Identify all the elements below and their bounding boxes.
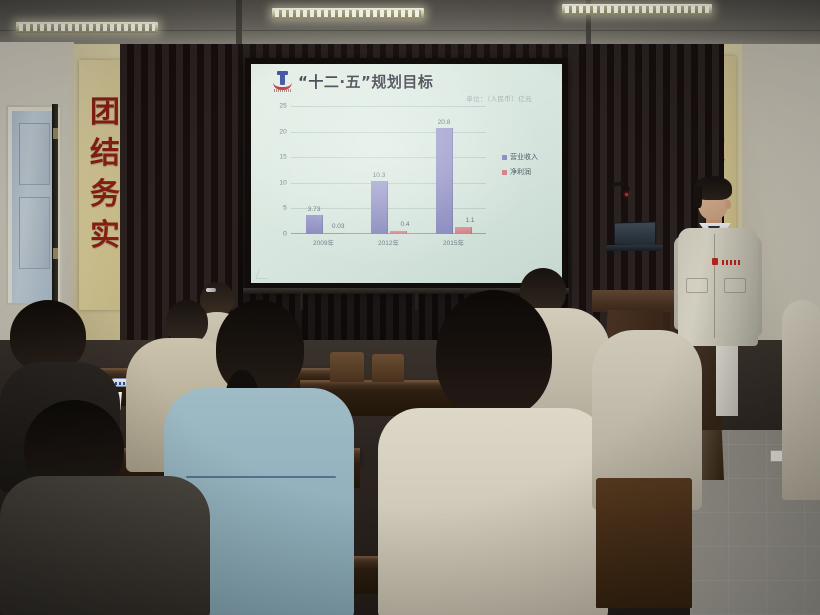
ceiling-light-left — [16, 22, 158, 33]
hair-clip — [206, 288, 216, 292]
chair-front-right[interactable] — [596, 478, 692, 608]
y-tick-15: 15 — [279, 154, 287, 161]
y-tick-5: 5 — [283, 205, 287, 212]
presenter-trousers — [716, 342, 738, 416]
bar-profit-2012: 0.4 — [390, 231, 407, 234]
bar-label-revenue-2015: 20.8 — [438, 119, 451, 126]
legend-label-revenue: 营业收入 — [510, 152, 538, 162]
y-tick-0: 0 — [283, 231, 287, 238]
shoulders — [0, 476, 210, 615]
x-label-2009: 2009年 — [313, 237, 334, 247]
banner-left-char-4: 实 — [90, 221, 120, 251]
audience-member-gray-sweater — [0, 400, 210, 615]
shoulders — [378, 408, 608, 615]
ceiling-light-center — [272, 8, 424, 19]
audience-member-edge-right — [782, 300, 820, 500]
bar-group-2015: 20.8 1.1 — [436, 106, 472, 234]
door-hinge-upper — [53, 128, 58, 139]
ceiling-light-right — [562, 4, 712, 15]
plot-area: 3.73 0.03 10.3 — [291, 106, 486, 234]
door-panel-top — [19, 123, 50, 185]
bar-profit-2015: 1.1 — [455, 227, 472, 234]
bar-revenue-2012: 10.3 — [371, 181, 388, 234]
bar-groups: 3.73 0.03 10.3 — [291, 106, 486, 234]
banner-left-char-1: 团 — [90, 98, 120, 128]
presenter-pocket-right — [724, 278, 746, 293]
x-axis-labels: 2009年 2012年 2015年 — [291, 237, 486, 247]
y-tick-10: 10 — [279, 179, 287, 186]
presenter-jacket-seam — [714, 234, 715, 338]
bar-label-revenue-2009: 3.73 — [308, 206, 321, 213]
company-logo-icon — [273, 70, 292, 92]
x-label-2012: 2012年 — [378, 237, 399, 247]
projection-screen-frame: “十二·五”规划目标 单位：（人民币）亿元 25 20 15 10 5 0 — [245, 58, 567, 290]
y-tick-25: 25 — [279, 103, 287, 110]
laptop-screen[interactable] — [614, 221, 656, 246]
bar-label-profit-2012: 0.4 — [400, 221, 409, 228]
legend-label-profit: 净利润 — [510, 167, 531, 177]
banner-left-char-2: 结 — [90, 139, 120, 169]
legend-item-revenue: 营业收入 — [502, 152, 538, 162]
door-hinge-lower — [53, 248, 58, 259]
laptop-base[interactable] — [605, 245, 663, 251]
door-panel-bottom — [19, 197, 50, 269]
slide-title: “十二·五”规划目标 — [298, 71, 433, 92]
bar-label-profit-2015: 1.1 — [465, 217, 474, 224]
bar-label-revenue-2012: 10.3 — [373, 172, 386, 179]
ceiling — [0, 0, 820, 46]
banner-left-char-3: 务 — [90, 180, 120, 210]
slide-unit-note: 单位：（人民币）亿元 — [259, 93, 554, 103]
audience-member-front-ponytail — [378, 290, 608, 615]
microphone-led-icon — [625, 193, 628, 196]
ceiling-beam-left — [236, 0, 242, 44]
x-label-2015: 2015年 — [443, 237, 464, 247]
bar-group-2012: 10.3 0.4 — [371, 106, 407, 234]
legend-item-profit: 净利润 — [502, 167, 538, 177]
slide-corner-mark — [256, 270, 271, 279]
projection-screen: “十二·五”规划目标 单位：（人民币）亿元 25 20 15 10 5 0 — [251, 64, 562, 283]
presentation-photo-scene: 团 结 务 实 高 效 务 “十二·五”规划目标 单位：（人民币）亿元 — [0, 0, 820, 615]
bar-label-profit-2009: 0.03 — [332, 223, 345, 230]
door-leaf — [12, 111, 57, 303]
shoulders — [782, 300, 820, 500]
presenter-hair-side — [693, 186, 702, 208]
legend-swatch-revenue-icon — [502, 155, 507, 160]
presenter-pocket-left — [686, 278, 708, 293]
presenter-jacket-logo-icon — [722, 260, 742, 265]
y-axis: 25 20 15 10 5 0 — [265, 106, 289, 234]
bar-profit-2009: 0.03 — [325, 233, 342, 234]
bar-group-2009: 3.73 0.03 — [306, 106, 342, 234]
legend-swatch-profit-icon — [502, 170, 507, 175]
head — [436, 290, 552, 418]
slide: “十二·五”规划目标 单位：（人民币）亿元 25 20 15 10 5 0 — [251, 64, 562, 283]
bar-revenue-2015: 20.8 — [436, 128, 453, 234]
bar-chart: 25 20 15 10 5 0 — [265, 106, 544, 256]
y-tick-20: 20 — [279, 128, 287, 135]
slide-header: “十二·五”规划目标 — [259, 70, 554, 92]
bar-revenue-2009: 3.73 — [306, 215, 323, 234]
presenter-ear — [725, 200, 731, 209]
chart-legend: 营业收入 净利润 — [502, 152, 538, 177]
presenter-badge-icon — [712, 258, 718, 265]
